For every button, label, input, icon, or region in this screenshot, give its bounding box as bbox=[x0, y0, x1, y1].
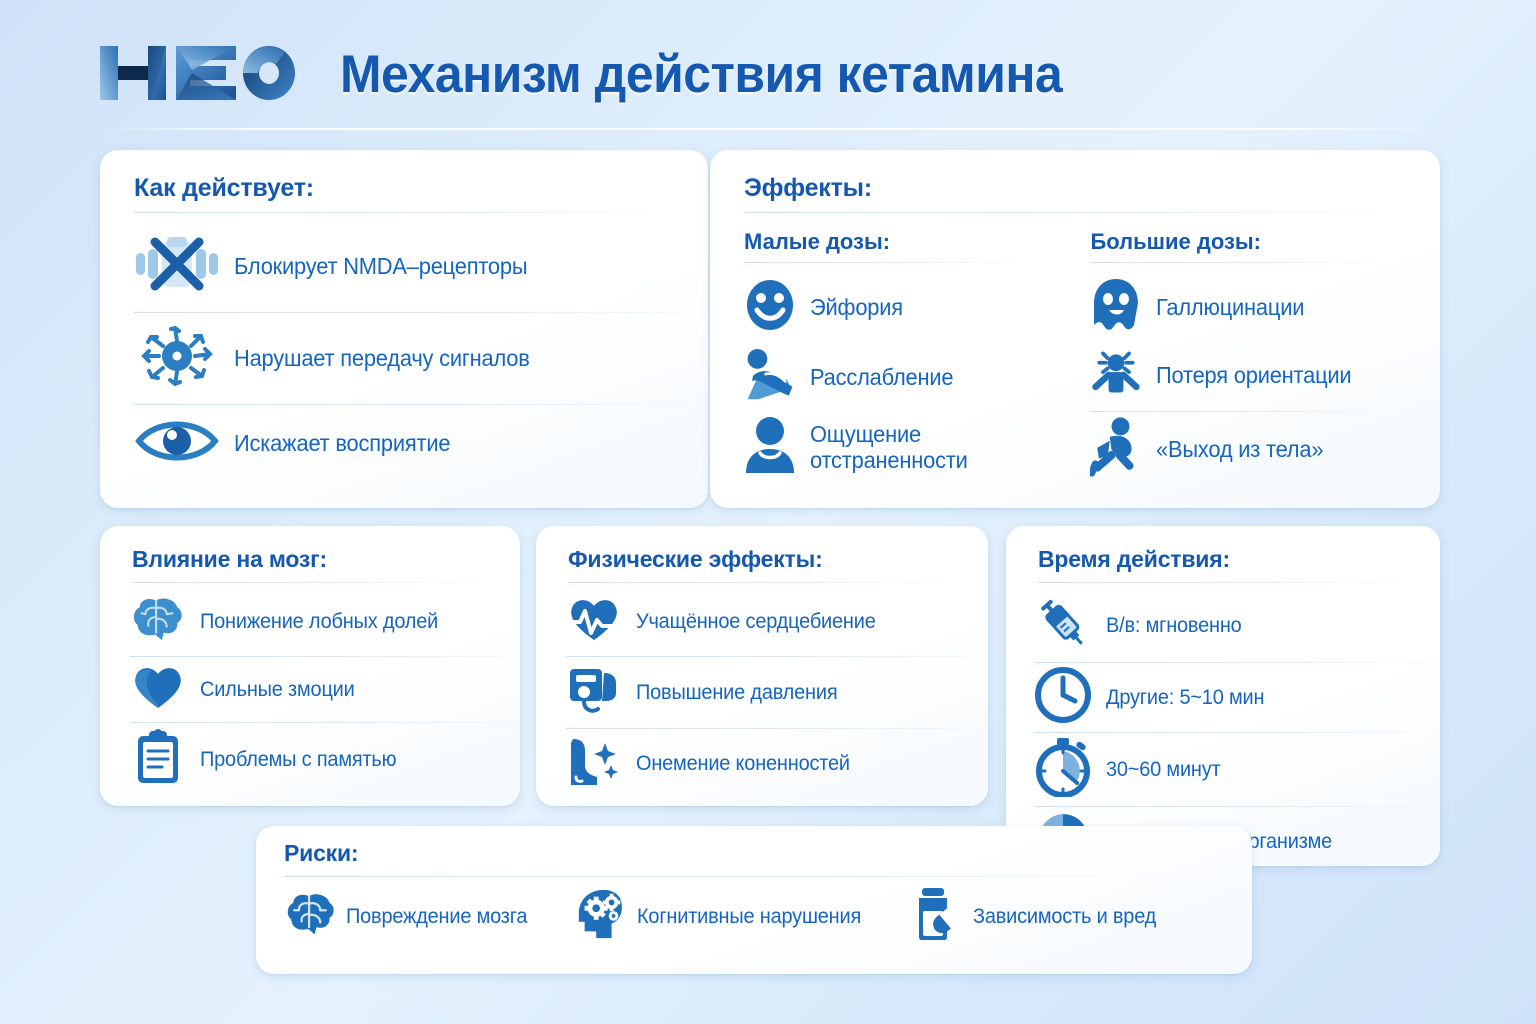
subtitle-low-dose: Малые дозы: bbox=[744, 229, 1064, 262]
divider bbox=[1090, 262, 1390, 263]
list-item-label: Проблемы с памятью bbox=[200, 748, 396, 772]
divider bbox=[744, 212, 1410, 213]
divider bbox=[566, 656, 1018, 657]
card-title-brain-impact: Влияние на мозг: bbox=[132, 546, 494, 582]
header-divider bbox=[96, 128, 1440, 130]
divider bbox=[1090, 411, 1390, 412]
page-title: Механизм действия кетамина bbox=[340, 44, 1062, 105]
list-item[interactable]: В/в: мгновенно bbox=[1034, 593, 1440, 658]
list-item[interactable]: 30~60 минут bbox=[1034, 737, 1440, 802]
divider bbox=[566, 728, 1018, 729]
smiley-face-icon bbox=[744, 277, 796, 338]
blood-pressure-monitor-icon bbox=[566, 663, 622, 722]
list-item-label: Повышение давления bbox=[636, 681, 837, 705]
list-item[interactable]: Расслабление bbox=[744, 344, 1064, 411]
list-item[interactable]: Повышение давления bbox=[566, 663, 988, 722]
divider bbox=[130, 656, 550, 657]
card-brain-impact: Влияние на мозг: Понижение лобных bbox=[100, 526, 520, 806]
clipboard-icon bbox=[130, 729, 186, 790]
card-title-effects: Эффекты: bbox=[744, 174, 1410, 212]
card-risks: Риски: bbox=[256, 826, 1252, 974]
list-item-label: Понижение лобных долей bbox=[200, 610, 438, 634]
divider bbox=[568, 582, 962, 583]
brain-damage-icon bbox=[284, 890, 336, 943]
list-item[interactable]: «Выход из тела» bbox=[1090, 414, 1440, 485]
list-item[interactable]: Другие: 5~10 мин bbox=[1034, 667, 1440, 728]
card-duration: Время действия: bbox=[1006, 526, 1440, 866]
effects-low-dose-column: Малые дозы: Эйфория bbox=[710, 229, 1064, 485]
list-item-label: Расслабление bbox=[810, 365, 953, 391]
divider bbox=[134, 312, 742, 313]
list-item[interactable]: Проблемы с памятью bbox=[130, 729, 520, 790]
divider bbox=[1034, 662, 1468, 663]
list-item[interactable]: Сильные змоции bbox=[130, 663, 520, 716]
list-item-label: Онемение коненностей bbox=[636, 752, 850, 776]
eye-icon bbox=[134, 417, 220, 470]
list-item[interactable]: Блокирует NMDA–рецепторы bbox=[134, 235, 708, 298]
card-title-risks: Риски: bbox=[284, 840, 1226, 876]
divider bbox=[744, 262, 1030, 263]
list-item[interactable]: Понижение лобных долей bbox=[130, 595, 520, 648]
list-item[interactable]: Эйфория bbox=[744, 277, 1064, 338]
pill-bottle-icon bbox=[911, 887, 963, 946]
list-item-label: Учащённое сердцебиение bbox=[636, 610, 876, 634]
list-item-label: Повреждение мозга bbox=[346, 905, 527, 929]
neo-plus-logo bbox=[96, 40, 296, 106]
page-header: Механизм действия кетамина bbox=[0, 0, 1536, 132]
card-physical-effects: Физические эффекты: Учащённое сердцебиен… bbox=[536, 526, 988, 806]
reclining-person-icon bbox=[744, 344, 796, 411]
list-item[interactable]: Повреждение мозга bbox=[284, 890, 537, 943]
list-item-label: Потеря ориентации bbox=[1156, 363, 1351, 389]
card-title-how-it-works: Как действует: bbox=[134, 174, 678, 212]
list-item-label: Искажает восприятие bbox=[234, 431, 450, 457]
list-item-label: Другие: 5~10 мин bbox=[1106, 686, 1264, 710]
list-item-label: «Выход из тела» bbox=[1156, 437, 1323, 463]
numb-foot-icon bbox=[566, 735, 622, 792]
list-item[interactable]: Галлюцинации bbox=[1090, 277, 1440, 338]
divider bbox=[284, 876, 1226, 877]
card-effects: Эффекты: Малые дозы: Эй bbox=[710, 150, 1440, 508]
syringe-icon bbox=[1034, 593, 1092, 658]
list-item-label: Зависимость и вред bbox=[973, 905, 1156, 929]
neuron-icon bbox=[134, 325, 220, 392]
list-item-label: Блокирует NMDA–рецепторы bbox=[234, 254, 527, 280]
card-how-it-works: Как действует: bbox=[100, 150, 708, 508]
stopwatch-icon bbox=[1034, 737, 1092, 802]
card-title-physical-effects: Физические эффекты: bbox=[568, 546, 962, 582]
divider bbox=[134, 404, 742, 405]
clock-icon bbox=[1034, 667, 1092, 728]
head-gears-icon bbox=[575, 888, 627, 945]
list-item-label: Галлюцинации bbox=[1156, 295, 1304, 321]
list-item-label: Когнитивные нарушения bbox=[637, 905, 861, 929]
ghost-icon bbox=[1090, 277, 1142, 338]
heart-pulse-icon bbox=[566, 595, 622, 648]
divider bbox=[134, 212, 678, 213]
list-item[interactable]: Учащённое сердцебиение bbox=[566, 595, 988, 648]
list-item-label: Сильные змоции bbox=[200, 678, 355, 702]
card-title-duration: Время действия: bbox=[1038, 546, 1414, 582]
list-item-label: В/в: мгновенно bbox=[1106, 614, 1242, 638]
divider bbox=[1034, 806, 1468, 807]
divider bbox=[130, 722, 550, 723]
list-item[interactable]: Нарушает передачу сигналов bbox=[134, 325, 708, 392]
divider bbox=[1034, 732, 1468, 733]
list-item[interactable]: Зависимость и вред bbox=[911, 887, 1166, 946]
list-item[interactable]: Онемение коненностей bbox=[566, 735, 988, 792]
heart-icon bbox=[130, 663, 186, 716]
subtitle-high-dose: Большие дозы: bbox=[1090, 229, 1440, 262]
divider bbox=[1038, 582, 1414, 583]
falling-person-icon bbox=[1090, 414, 1142, 485]
nmda-receptor-blocked-icon bbox=[134, 235, 220, 298]
list-item-label: Ощущение отстраненности bbox=[810, 422, 968, 474]
list-item-label: Нарушает передачу сигналов bbox=[234, 346, 530, 372]
brain-icon bbox=[130, 595, 186, 648]
divider bbox=[132, 582, 494, 583]
dizzy-person-icon bbox=[1090, 346, 1142, 405]
list-item[interactable]: Когнитивные нарушения bbox=[575, 888, 873, 945]
list-item-label: Эйфория bbox=[810, 295, 903, 321]
infographic-page: Механизм действия кетамина Как действует… bbox=[0, 0, 1536, 1024]
effects-high-dose-column: Большие дозы: Галлюцинации bbox=[1064, 229, 1440, 485]
list-item[interactable]: Искажает восприятие bbox=[134, 417, 708, 470]
list-item[interactable]: Потеря ориентации bbox=[1090, 346, 1440, 405]
list-item-label: 30~60 минут bbox=[1106, 758, 1220, 782]
list-item[interactable]: Ощущение отстраненности bbox=[744, 415, 1064, 480]
person-bust-icon bbox=[744, 415, 796, 480]
